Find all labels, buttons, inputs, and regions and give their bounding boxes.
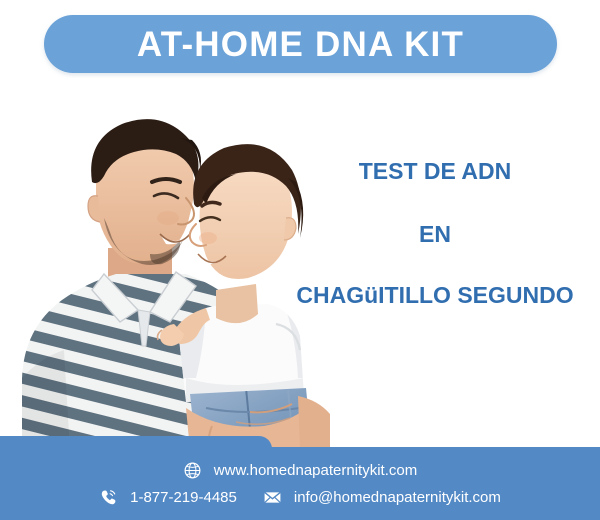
poster-canvas: AT-HOME DNA KIT bbox=[0, 0, 600, 520]
header-banner: AT-HOME DNA KIT bbox=[44, 15, 557, 73]
globe-icon bbox=[183, 461, 202, 480]
footer-row-phone-email: 1-877-219-4485 info@homednapaternitykit.… bbox=[99, 488, 501, 507]
envelope-icon bbox=[263, 488, 282, 507]
headline-line-1: TEST DE ADN bbox=[272, 160, 598, 183]
headline-line-3: CHAGüITILLO SEGUNDO bbox=[272, 284, 598, 307]
footer-row-website: www.homednapaternitykit.com bbox=[183, 461, 417, 480]
footer-contact-info: www.homednapaternitykit.com 1-877-219-44… bbox=[0, 447, 600, 520]
phone-item[interactable]: 1-877-219-4485 bbox=[99, 488, 237, 507]
header-title: AT-HOME DNA KIT bbox=[137, 27, 464, 62]
website-text: www.homednapaternitykit.com bbox=[214, 463, 417, 478]
phone-text: 1-877-219-4485 bbox=[130, 490, 237, 505]
phone-icon bbox=[99, 488, 118, 507]
website-item[interactable]: www.homednapaternitykit.com bbox=[183, 461, 417, 480]
headline-block: TEST DE ADN EN CHAGüITILLO SEGUNDO bbox=[272, 160, 598, 307]
email-item[interactable]: info@homednapaternitykit.com bbox=[263, 488, 501, 507]
headline-line-2: EN bbox=[272, 223, 598, 246]
email-text: info@homednapaternitykit.com bbox=[294, 490, 501, 505]
